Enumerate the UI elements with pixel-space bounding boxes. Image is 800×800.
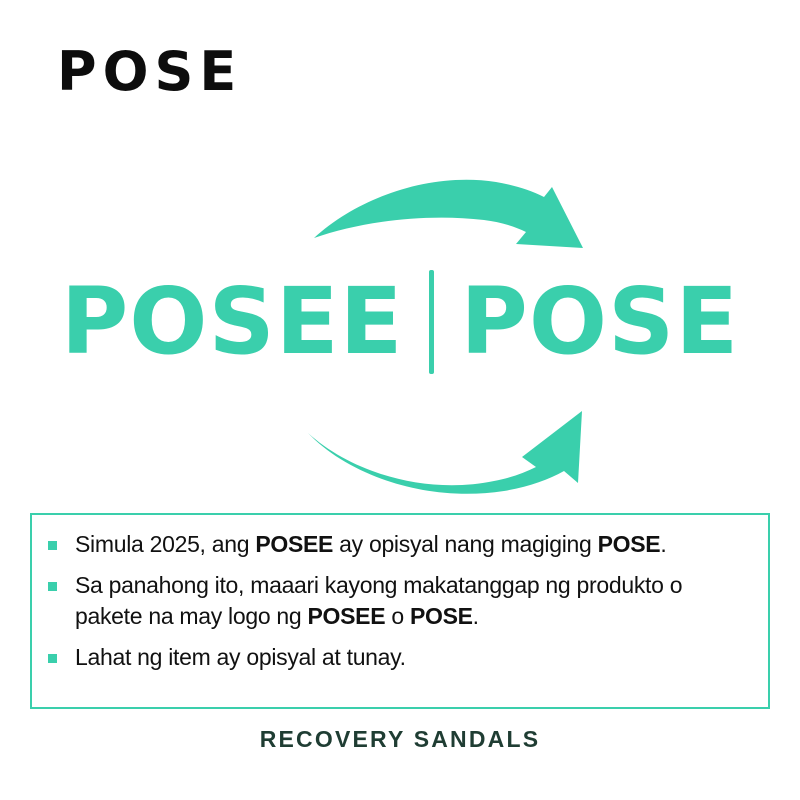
bullet-text: Sa panahong ito, maaari kayong makatangg… (75, 570, 750, 633)
bullet-text: Lahat ng item ay opisyal at tunay. (75, 642, 406, 674)
bullet-square-icon (48, 541, 57, 550)
list-item: Lahat ng item ay opisyal at tunay. (48, 642, 750, 674)
bullet-square-icon (48, 654, 57, 663)
curved-arrow-right-icon (300, 170, 590, 280)
info-box: Simula 2025, ang POSEE ay opisyal nang m… (30, 513, 770, 709)
wordmark-new-name: POSE (460, 276, 739, 368)
brand-logo: POSE (57, 45, 242, 99)
list-item: Sa panahong ito, maaari kayong makatangg… (48, 570, 750, 633)
footer-tagline: RECOVERY SANDALS (0, 726, 800, 753)
wordmark-old-name: POSEE (61, 276, 404, 368)
bullet-text: Simula 2025, ang POSEE ay opisyal nang m… (75, 529, 666, 561)
curved-arrow-up-right-icon (290, 395, 590, 505)
rebrand-graphic: POSEE POSE (0, 160, 800, 510)
wordmark-row: POSEE POSE (0, 270, 800, 374)
wordmark-divider (429, 270, 434, 374)
list-item: Simula 2025, ang POSEE ay opisyal nang m… (48, 529, 750, 561)
bullet-square-icon (48, 582, 57, 591)
